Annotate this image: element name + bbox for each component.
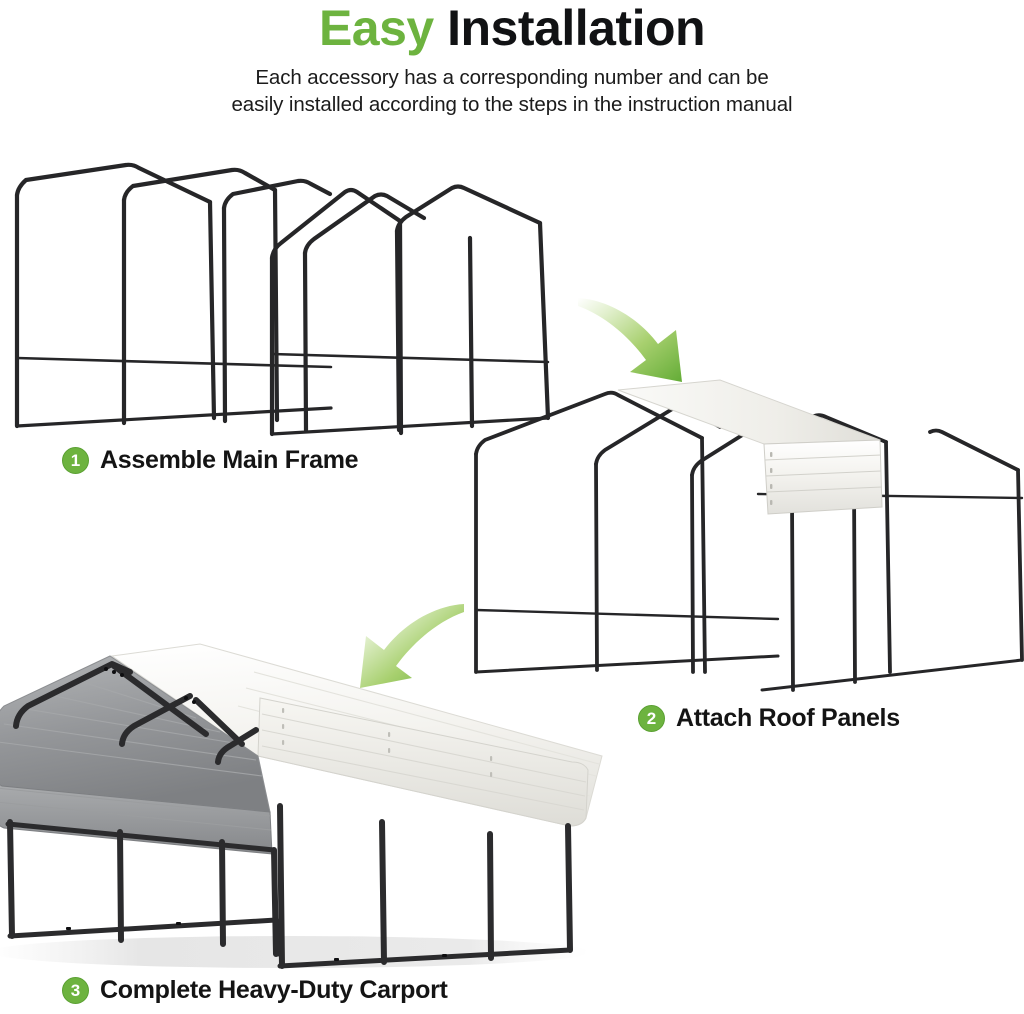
illustration-complete-carport xyxy=(0,636,630,976)
title-highlight-word: Easy xyxy=(319,0,434,56)
step-2-badge: 2 xyxy=(638,705,665,732)
page-title: Easy Installation xyxy=(0,2,1024,54)
step-3-caption: 3 Complete Heavy-Duty Carport xyxy=(62,976,448,1005)
step-2-caption: 2 Attach Roof Panels xyxy=(638,704,900,733)
subtitle-line-2: easily installed according to the steps … xyxy=(0,91,1024,118)
step-2-label: Attach Roof Panels xyxy=(676,704,900,733)
header: Easy Installation Each accessory has a c… xyxy=(0,0,1024,119)
step-3-badge: 3 xyxy=(62,977,89,1004)
step-3-label: Complete Heavy-Duty Carport xyxy=(100,976,448,1005)
subtitle-line-1: Each accessory has a corresponding numbe… xyxy=(0,64,1024,91)
title-rest-word: Installation xyxy=(447,0,705,56)
step-1-badge: 1 xyxy=(62,447,89,474)
subtitle: Each accessory has a corresponding numbe… xyxy=(0,64,1024,119)
step-1-caption: 1 Assemble Main Frame xyxy=(62,446,358,475)
roof-panel xyxy=(618,380,882,514)
infographic-canvas: Easy Installation Each accessory has a c… xyxy=(0,0,1024,1014)
step-1-label: Assemble Main Frame xyxy=(100,446,358,475)
